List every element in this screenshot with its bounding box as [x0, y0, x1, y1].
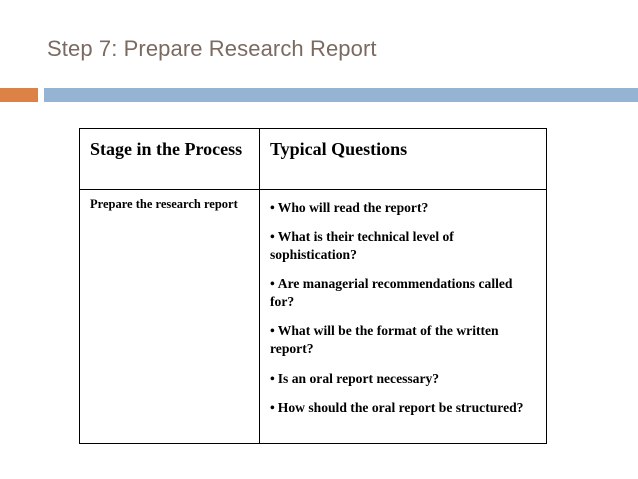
- list-item: •Is an oral report necessary?: [270, 370, 538, 388]
- bullet-icon: •: [270, 276, 275, 291]
- cell-stage: Prepare the research report: [80, 190, 260, 444]
- typical-questions-list: •Who will read the report? •What is thei…: [270, 199, 538, 417]
- bullet-icon: •: [270, 200, 275, 215]
- title-rule-accent-block: [0, 88, 38, 102]
- bullet-icon: •: [270, 323, 275, 338]
- bullet-icon: •: [270, 371, 275, 386]
- list-item-text: How should the oral report be structured…: [278, 400, 524, 415]
- title-rule-bar: [44, 88, 638, 102]
- stage-label: Prepare the research report: [90, 197, 253, 211]
- list-item: •What will be the format of the written …: [270, 322, 538, 358]
- column-header-questions-label: Typical Questions: [270, 138, 546, 161]
- bullet-icon: •: [270, 400, 275, 415]
- list-item-text: Are managerial recommendations called fo…: [270, 276, 512, 309]
- column-header-stage: Stage in the Process: [80, 129, 260, 190]
- slide-title: Step 7: Prepare Research Report: [47, 36, 377, 62]
- list-item: •Who will read the report?: [270, 199, 538, 217]
- column-header-questions: Typical Questions: [260, 129, 547, 190]
- list-item-text: What will be the format of the written r…: [270, 323, 499, 356]
- list-item: •What is their technical level of sophis…: [270, 228, 538, 264]
- column-header-stage-label: Stage in the Process: [90, 138, 259, 161]
- list-item: •Are managerial recommendations called f…: [270, 275, 538, 311]
- list-item-text: Is an oral report necessary?: [278, 371, 439, 386]
- list-item-text: What is their technical level of sophist…: [270, 229, 454, 262]
- list-item: •How should the oral report be structure…: [270, 399, 538, 417]
- title-divider-rule: [0, 88, 638, 102]
- list-item-text: Who will read the report?: [278, 200, 429, 215]
- research-stage-table: Stage in the Process Typical Questions P…: [79, 128, 547, 444]
- bullet-icon: •: [270, 229, 275, 244]
- table-row: Prepare the research report •Who will re…: [80, 190, 547, 444]
- table-header-row: Stage in the Process Typical Questions: [80, 129, 547, 190]
- cell-questions: •Who will read the report? •What is thei…: [260, 190, 547, 444]
